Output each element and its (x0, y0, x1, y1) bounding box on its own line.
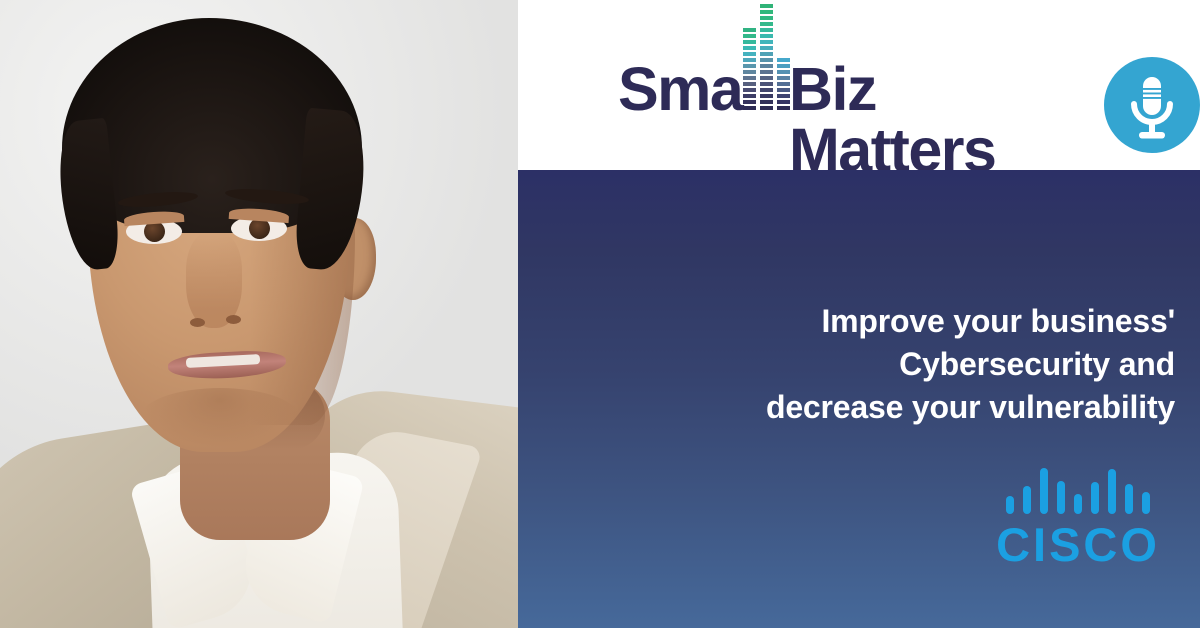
equalizer-segment (743, 82, 756, 86)
cisco-wordmark: CISCO (988, 521, 1168, 568)
equalizer-segment (760, 76, 773, 80)
equalizer-segment (743, 94, 756, 98)
equalizer-segment (760, 22, 773, 26)
equalizer-segment (743, 28, 756, 32)
equalizer-segment (743, 40, 756, 44)
equalizer-segment (777, 64, 790, 68)
cisco-bar (1057, 481, 1065, 514)
nostril-left (190, 318, 205, 327)
cisco-bar (1125, 484, 1133, 514)
headline-line-1: Improve your business' (655, 300, 1175, 343)
equalizer-segment (743, 34, 756, 38)
equalizer-segment (743, 70, 756, 74)
equalizer-segment (760, 34, 773, 38)
cisco-bar (1142, 492, 1150, 514)
equalizer-segment (760, 4, 773, 8)
equalizer-segment (743, 52, 756, 56)
equalizer-segment (743, 106, 756, 110)
cisco-bridge-bars-icon (988, 468, 1168, 514)
equalizer-segment (777, 88, 790, 92)
equalizer-segment (777, 70, 790, 74)
equalizer-segment (777, 82, 790, 86)
equalizer-segment (760, 94, 773, 98)
equalizer-segment (760, 70, 773, 74)
equalizer-segment (760, 46, 773, 50)
headline-line-2: Cybersecurity and (655, 343, 1175, 386)
equalizer-segment (777, 100, 790, 104)
equalizer-bars-icon (743, 28, 788, 110)
cisco-bar (1040, 468, 1048, 514)
microphone-icon (1104, 57, 1200, 153)
equalizer-segment (743, 64, 756, 68)
equalizer-segment (760, 28, 773, 32)
cisco-logo: CISCO (988, 468, 1168, 568)
equalizer-segment (777, 76, 790, 80)
equalizer-segment (743, 100, 756, 104)
smallbiz-matters-logo: Sma Biz Matters (618, 28, 1200, 181)
equalizer-segment (777, 106, 790, 110)
equalizer-segment (743, 76, 756, 80)
equalizer-segment (760, 52, 773, 56)
chin-shading (140, 388, 300, 448)
equalizer-segment (760, 40, 773, 44)
equalizer-segment (760, 100, 773, 104)
cisco-bar (1108, 469, 1116, 514)
cisco-bar (1023, 486, 1031, 514)
guest-headshot-photo (0, 0, 518, 628)
cisco-bar (1074, 494, 1082, 514)
equalizer-segment (743, 88, 756, 92)
headline-line-3: decrease your vulnerability (655, 386, 1175, 429)
equalizer-bar-1 (743, 28, 756, 110)
smallbiz-matters-wordmark: Sma Biz Matters (618, 28, 1082, 181)
equalizer-segment (777, 58, 790, 62)
wordmark-part-1: Sma (618, 59, 742, 120)
equalizer-segment (760, 106, 773, 110)
equalizer-segment (760, 10, 773, 14)
equalizer-bar-3 (777, 58, 790, 110)
headline: Improve your business' Cybersecurity and… (655, 300, 1175, 430)
equalizer-segment (760, 64, 773, 68)
cisco-bar (1091, 482, 1099, 514)
equalizer-segment (760, 16, 773, 20)
equalizer-segment (760, 88, 773, 92)
equalizer-segment (760, 82, 773, 86)
cisco-bar (1006, 496, 1014, 514)
equalizer-segment (743, 58, 756, 62)
equalizer-segment (777, 94, 790, 98)
equalizer-bar-2 (760, 4, 773, 110)
wordmark-part-2: Biz Matters (789, 59, 1082, 181)
nose (186, 232, 242, 328)
logo-band: Sma Biz Matters (518, 0, 1200, 170)
equalizer-segment (743, 46, 756, 50)
microphone-badge (1104, 57, 1200, 153)
gradient-panel: Improve your business' Cybersecurity and… (518, 170, 1200, 628)
equalizer-segment (760, 58, 773, 62)
promo-banner: Sma Biz Matters (0, 0, 1200, 628)
nostril-right (226, 315, 241, 324)
